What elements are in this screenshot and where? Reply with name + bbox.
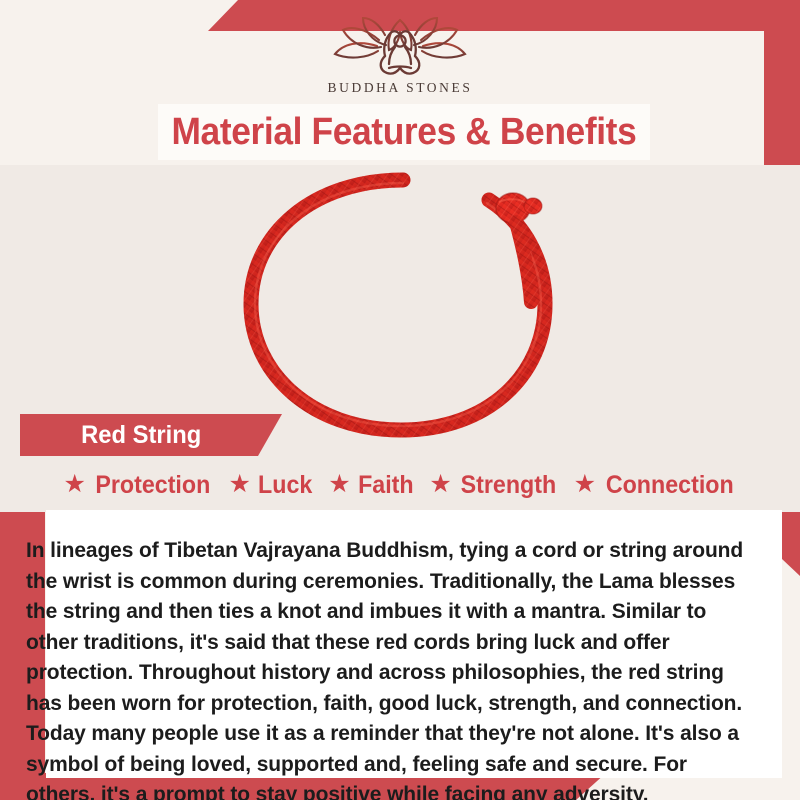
star-icon: ★ xyxy=(574,472,596,497)
benefits-list: ★ Protection ★ Luck ★ Faith ★ Strength ★… xyxy=(26,466,776,504)
benefit-label: Faith xyxy=(358,471,414,500)
star-icon: ★ xyxy=(63,472,85,497)
benefit-item-protection: ★ Protection xyxy=(58,471,219,500)
lotus-meditation-icon xyxy=(329,16,471,78)
product-image xyxy=(193,162,608,452)
benefit-item-faith: ★ Faith xyxy=(323,471,420,500)
product-name: Red String xyxy=(81,421,201,450)
description-panel: In lineages of Tibetan Vajrayana Buddhis… xyxy=(46,510,782,778)
benefit-item-luck: ★ Luck xyxy=(224,471,320,500)
brand-name: BUDDHA STONES xyxy=(328,80,473,96)
star-icon: ★ xyxy=(328,472,350,497)
page-title-box: Material Features & Benefits xyxy=(158,104,650,160)
brand-logo: BUDDHA STONES xyxy=(0,16,800,102)
benefit-label: Protection xyxy=(95,471,210,500)
benefit-item-strength: ★ Strength xyxy=(424,471,564,500)
benefit-item-connection: ★ Connection xyxy=(569,471,744,500)
description-text: In lineages of Tibetan Vajrayana Buddhis… xyxy=(26,535,755,800)
page-title: Material Features & Benefits xyxy=(172,111,637,154)
benefit-label: Luck xyxy=(258,471,312,500)
product-name-ribbon: Red String xyxy=(20,414,282,456)
star-icon: ★ xyxy=(229,472,251,497)
star-icon: ★ xyxy=(429,472,451,497)
benefit-label: Connection xyxy=(606,471,734,500)
benefit-label: Strength xyxy=(460,471,556,500)
infographic-page: BUDDHA STONES Material Features & Benefi… xyxy=(0,0,800,800)
